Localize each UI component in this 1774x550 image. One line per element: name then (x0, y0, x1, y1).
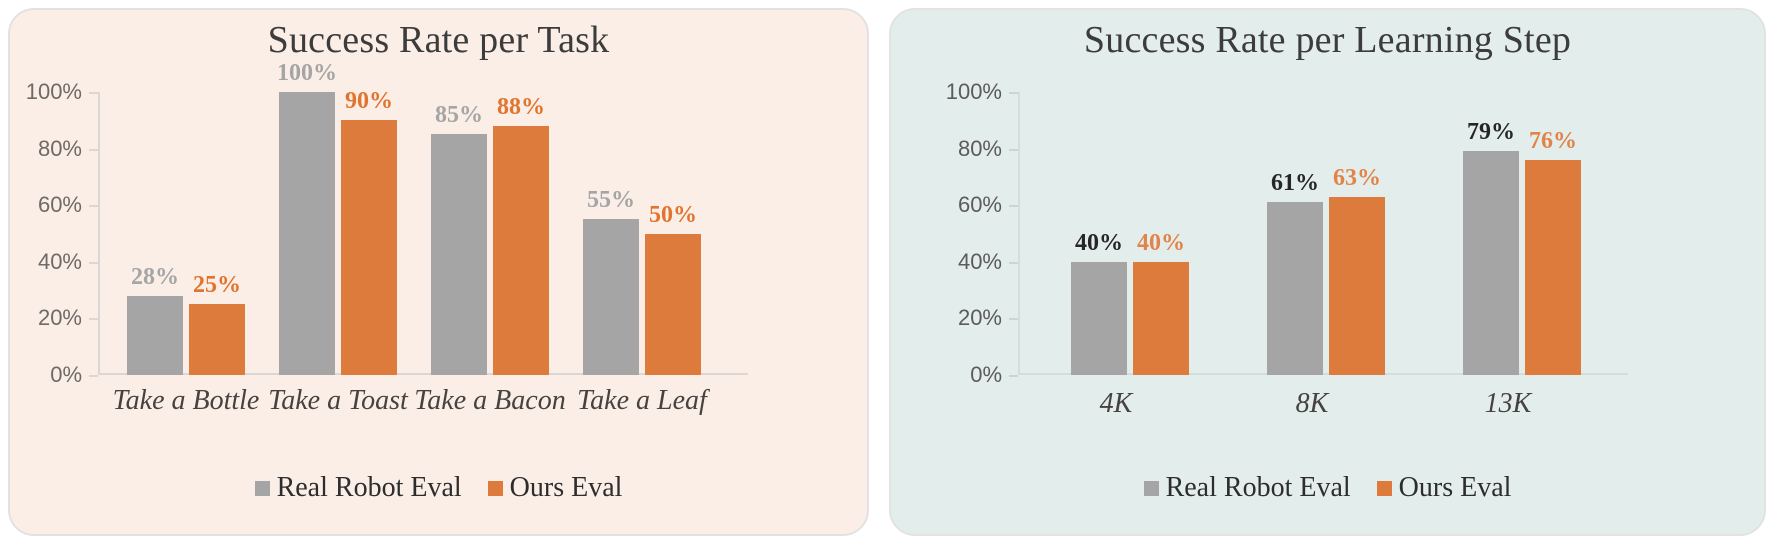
bar-value-label: 76% (1529, 128, 1577, 155)
y-tick-mark-40 (89, 262, 98, 264)
bar-ours-eval-8k[interactable]: 63% (1329, 197, 1385, 375)
y-axis-spine-right (1018, 92, 1020, 375)
bar-group-13k: 79% 76% (1424, 92, 1620, 375)
y-tick-mark-80 (89, 149, 98, 151)
bar-ours-eval-13k[interactable]: 76% (1525, 160, 1581, 375)
y-tick-mark-40 (1009, 262, 1018, 264)
legend-left: Real Robot Eval Ours Eval (10, 472, 867, 504)
bar-value-label: 88% (497, 94, 545, 121)
y-tick-mark-20 (89, 318, 98, 320)
y-tick-label-60: 60% (38, 192, 82, 218)
x-category-label-take-a-toast: Take a Toast (268, 385, 408, 417)
y-tick-label-100: 100% (26, 79, 82, 105)
bar-ours-eval-take-a-toast[interactable]: 90% (341, 120, 397, 375)
bar-group-take-a-leaf: 55% 50% (566, 92, 718, 375)
bar-value-label: 79% (1467, 119, 1515, 146)
y-tick-mark-80 (1009, 149, 1018, 151)
bar-real-robot-eval-take-a-leaf[interactable]: 55% (583, 219, 639, 375)
legend-item-real-robot-eval[interactable]: Real Robot Eval (255, 472, 462, 504)
y-tick-mark-100 (1009, 92, 1018, 94)
legend-label: Real Robot Eval (277, 472, 462, 504)
legend-item-ours-eval[interactable]: Ours Eval (1377, 472, 1512, 504)
figure-root: Success Rate per Task 100% 80% 60% 40% 2… (0, 0, 1774, 550)
legend-label: Real Robot Eval (1166, 472, 1351, 504)
bar-group-8k: 61% 63% (1228, 92, 1424, 375)
y-tick-label-0: 0% (970, 362, 1002, 388)
bar-real-robot-eval-take-a-bottle[interactable]: 28% (127, 296, 183, 375)
legend-label: Ours Eval (1399, 472, 1512, 504)
y-tick-label-20: 20% (38, 305, 82, 331)
bar-value-label: 90% (345, 88, 393, 115)
bar-group-take-a-toast: 100% 90% (262, 92, 414, 375)
bar-value-label: 40% (1137, 230, 1185, 257)
legend-right: Real Robot Eval Ours Eval (891, 472, 1764, 504)
y-tick-label-60: 60% (958, 192, 1002, 218)
chart-panel-success-rate-per-learning-step: Success Rate per Learning Step 100% 80% … (889, 8, 1766, 536)
legend-label: Ours Eval (510, 472, 623, 504)
y-tick-mark-0 (1009, 375, 1018, 377)
legend-swatch-orange-icon (1377, 481, 1392, 496)
legend-swatch-gray-icon (1144, 481, 1159, 496)
y-tick-label-40: 40% (38, 249, 82, 275)
bar-group-take-a-bacon: 85% 88% (414, 92, 566, 375)
y-tick-mark-100 (89, 92, 98, 94)
bar-group-4k: 40% 40% (1032, 92, 1228, 375)
bar-value-label: 50% (649, 202, 697, 229)
x-category-label-take-a-leaf: Take a Leaf (577, 385, 707, 417)
bar-ours-eval-take-a-bottle[interactable]: 25% (189, 304, 245, 375)
bar-value-label: 28% (131, 264, 179, 291)
x-category-label-8k: 8K (1296, 388, 1329, 420)
y-tick-label-100: 100% (946, 79, 1002, 105)
legend-item-ours-eval[interactable]: Ours Eval (488, 472, 623, 504)
y-tick-mark-60 (1009, 205, 1018, 207)
bar-value-label: 100% (277, 60, 337, 87)
bar-ours-eval-4k[interactable]: 40% (1133, 262, 1189, 375)
y-tick-label-40: 40% (958, 249, 1002, 275)
legend-swatch-gray-icon (255, 481, 270, 496)
bar-real-robot-eval-4k[interactable]: 40% (1071, 262, 1127, 375)
chart-title-left: Success Rate per Task (10, 18, 867, 62)
legend-item-real-robot-eval[interactable]: Real Robot Eval (1144, 472, 1351, 504)
bar-real-robot-eval-13k[interactable]: 79% (1463, 151, 1519, 375)
y-tick-label-80: 80% (38, 136, 82, 162)
chart-title-right: Success Rate per Learning Step (891, 18, 1764, 62)
bar-value-label: 61% (1271, 170, 1319, 197)
y-tick-label-80: 80% (958, 136, 1002, 162)
bar-group-take-a-bottle: 28% 25% (110, 92, 262, 375)
bar-real-robot-eval-8k[interactable]: 61% (1267, 202, 1323, 375)
bar-value-label: 63% (1333, 165, 1381, 192)
chart-panel-success-rate-per-task: Success Rate per Task 100% 80% 60% 40% 2… (8, 8, 869, 536)
bar-value-label: 25% (193, 272, 241, 299)
x-category-label-take-a-bacon: Take a Bacon (414, 385, 565, 417)
bar-real-robot-eval-take-a-toast[interactable]: 100% (279, 92, 335, 375)
bar-ours-eval-take-a-leaf[interactable]: 50% (645, 234, 701, 376)
y-tick-mark-0 (89, 375, 98, 377)
y-tick-mark-60 (89, 205, 98, 207)
y-tick-label-20: 20% (958, 305, 1002, 331)
legend-swatch-orange-icon (488, 481, 503, 496)
plot-area-right: 100% 80% 60% 40% 20% 0% 40% 40% (1018, 92, 1628, 375)
bar-value-label: 55% (587, 187, 635, 214)
y-axis-spine-left (98, 92, 100, 375)
x-category-label-13k: 13K (1485, 388, 1532, 420)
x-category-label-4k: 4K (1100, 388, 1133, 420)
bar-value-label: 40% (1075, 230, 1123, 257)
y-tick-label-0: 0% (50, 362, 82, 388)
bar-real-robot-eval-take-a-bacon[interactable]: 85% (431, 134, 487, 375)
plot-area-left: 100% 80% 60% 40% 20% 0% 28% 25% (98, 92, 748, 375)
bar-value-label: 85% (435, 102, 483, 129)
x-category-label-take-a-bottle: Take a Bottle (113, 385, 260, 417)
bar-ours-eval-take-a-bacon[interactable]: 88% (493, 126, 549, 375)
y-tick-mark-20 (1009, 318, 1018, 320)
